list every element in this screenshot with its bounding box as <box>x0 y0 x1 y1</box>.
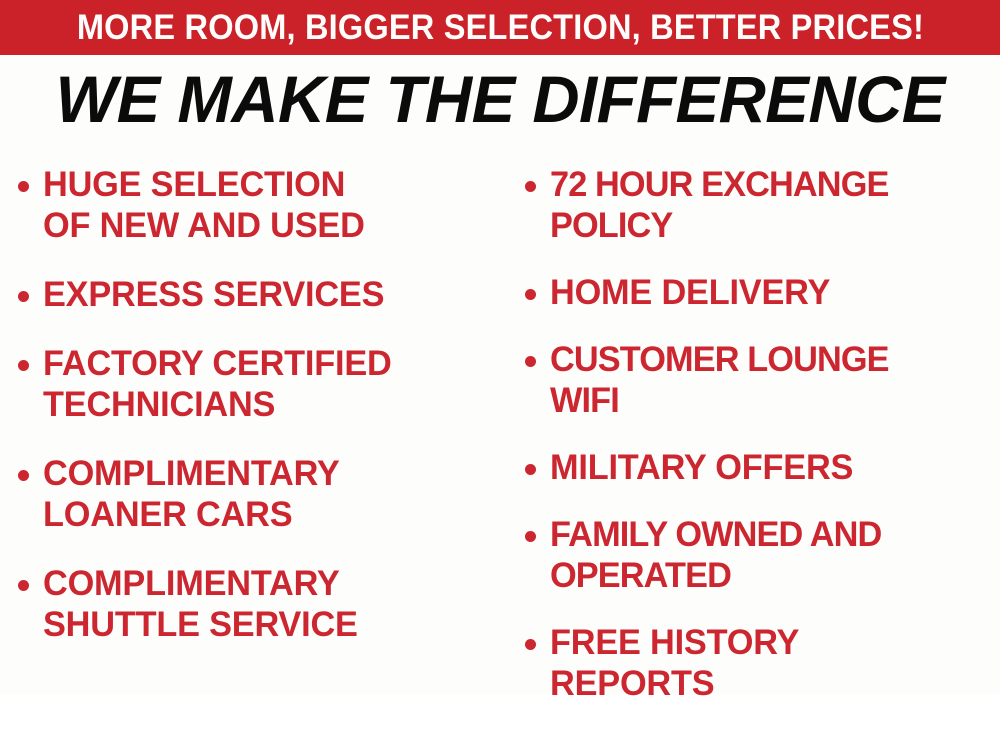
bullet-dot-icon <box>18 580 29 591</box>
bullet-dot-icon <box>525 181 536 192</box>
bullet-dot-icon <box>525 289 536 300</box>
list-item: MILITARY OFFERS <box>525 447 1000 488</box>
list-item-label: 72 HOUR EXCHANGE POLICY <box>550 164 888 246</box>
list-item-label: FACTORY CERTIFIED TECHNICIANS <box>43 343 392 425</box>
list-item-label: HOME DELIVERY <box>550 272 830 313</box>
features-column-left: HUGE SELECTION OF NEW AND USED EXPRESS S… <box>0 150 505 673</box>
bullet-dot-icon <box>18 181 29 192</box>
bullet-dot-icon <box>525 464 536 475</box>
list-item-label: COMPLIMENTARY SHUTTLE SERVICE <box>43 563 358 645</box>
top-banner: MORE ROOM, BIGGER SELECTION, BETTER PRIC… <box>0 0 1000 55</box>
list-item-label: FAMILY OWNED AND OPERATED <box>550 514 881 596</box>
list-item: EXPRESS SERVICES <box>18 274 505 315</box>
bullet-dot-icon <box>525 531 536 542</box>
list-item: FAMILY OWNED AND OPERATED <box>525 514 1000 596</box>
list-item: COMPLIMENTARY LOANER CARS <box>18 453 505 535</box>
bullet-dot-icon <box>18 470 29 481</box>
features-columns: HUGE SELECTION OF NEW AND USED EXPRESS S… <box>0 150 1000 694</box>
bullet-dot-icon <box>18 291 29 302</box>
list-item: FREE HISTORY REPORTS <box>525 622 1000 704</box>
list-item-label: MILITARY OFFERS <box>550 447 853 488</box>
promotional-poster: MORE ROOM, BIGGER SELECTION, BETTER PRIC… <box>0 0 1000 694</box>
features-column-right: 72 HOUR EXCHANGE POLICY HOME DELIVERY CU… <box>505 150 1000 730</box>
list-item-label: CUSTOMER LOUNGE WIFI <box>550 339 889 421</box>
list-item-label: FREE HISTORY REPORTS <box>550 622 799 704</box>
list-item: HOME DELIVERY <box>525 272 1000 313</box>
headline-container: WE MAKE THE DIFFERENCE <box>0 60 1000 138</box>
banner-headline-text: MORE ROOM, BIGGER SELECTION, BETTER PRIC… <box>76 10 923 45</box>
bullet-dot-icon <box>525 639 536 650</box>
list-item: FACTORY CERTIFIED TECHNICIANS <box>18 343 505 425</box>
bullet-dot-icon <box>525 356 536 367</box>
list-item-label: HUGE SELECTION OF NEW AND USED <box>43 164 365 246</box>
list-item-label: COMPLIMENTARY LOANER CARS <box>43 453 340 535</box>
list-item-label: EXPRESS SERVICES <box>43 274 384 315</box>
bullet-dot-icon <box>18 360 29 371</box>
list-item: HUGE SELECTION OF NEW AND USED <box>18 164 505 246</box>
list-item: CUSTOMER LOUNGE WIFI <box>525 339 1000 421</box>
list-item: 72 HOUR EXCHANGE POLICY <box>525 164 1000 246</box>
list-item: COMPLIMENTARY SHUTTLE SERVICE <box>18 563 505 645</box>
page-title: WE MAKE THE DIFFERENCE <box>55 66 944 132</box>
